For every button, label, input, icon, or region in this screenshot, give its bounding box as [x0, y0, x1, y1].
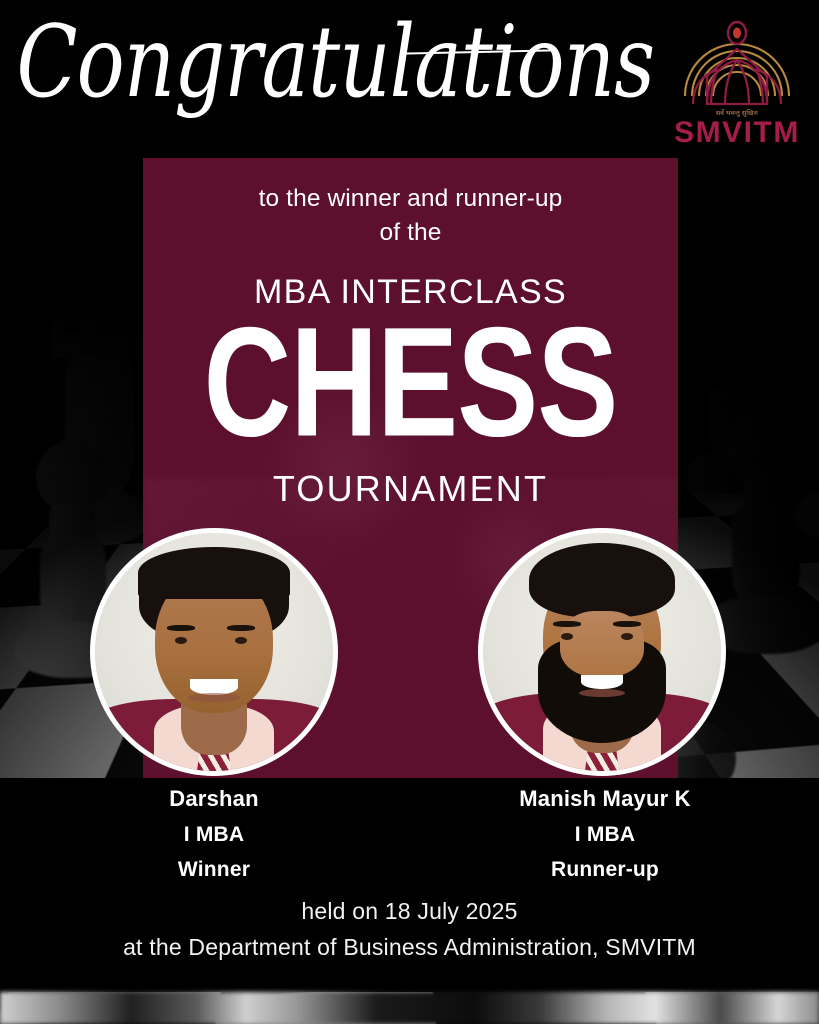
event-date: held on 18 July 2025	[0, 898, 819, 925]
panel-lead-line-2: of the	[143, 216, 678, 250]
event-type-label: TOURNAMENT	[143, 468, 678, 510]
winner-card-2: Manish Mayur K I MBA Runner-up	[440, 788, 770, 894]
avatar-winner	[90, 528, 338, 776]
institution-logo: सर्वे भवन्तु सुखिनः SMVITM	[673, 16, 801, 146]
dome-lotus-logo-icon: सर्वे भवन्तु सुखिनः	[673, 16, 801, 120]
page-title: Congratulations	[17, 8, 644, 117]
logo-wordmark: SMVITM	[673, 116, 801, 150]
winner-name: Darshan	[49, 788, 379, 810]
runner-up-name: Manish Mayur K	[440, 788, 770, 810]
bottom-photo-strip	[0, 992, 819, 1024]
winner-card-1: Darshan I MBA Winner	[49, 788, 379, 894]
portrait-darshan	[95, 533, 333, 771]
panel-lead-text: to the winner and runner-up of the	[143, 182, 678, 250]
runner-up-position: Runner-up	[440, 859, 770, 880]
event-headline: CHESS	[164, 301, 656, 465]
event-footer: held on 18 July 2025 at the Department o…	[0, 898, 819, 961]
winner-course: I MBA	[49, 824, 379, 845]
congratulations-poster: Congratulations सर्वे भवन्तु	[0, 0, 819, 1024]
credits-band: Darshan I MBA Winner Manish Mayur K I MB…	[0, 778, 819, 992]
portrait-manish-mayur-k	[483, 533, 721, 771]
winner-position: Winner	[49, 859, 379, 880]
panel-lead-line-1: to the winner and runner-up	[143, 182, 678, 216]
runner-up-course: I MBA	[440, 824, 770, 845]
event-venue: at the Department of Business Administra…	[0, 934, 819, 961]
avatar-runner-up	[478, 528, 726, 776]
